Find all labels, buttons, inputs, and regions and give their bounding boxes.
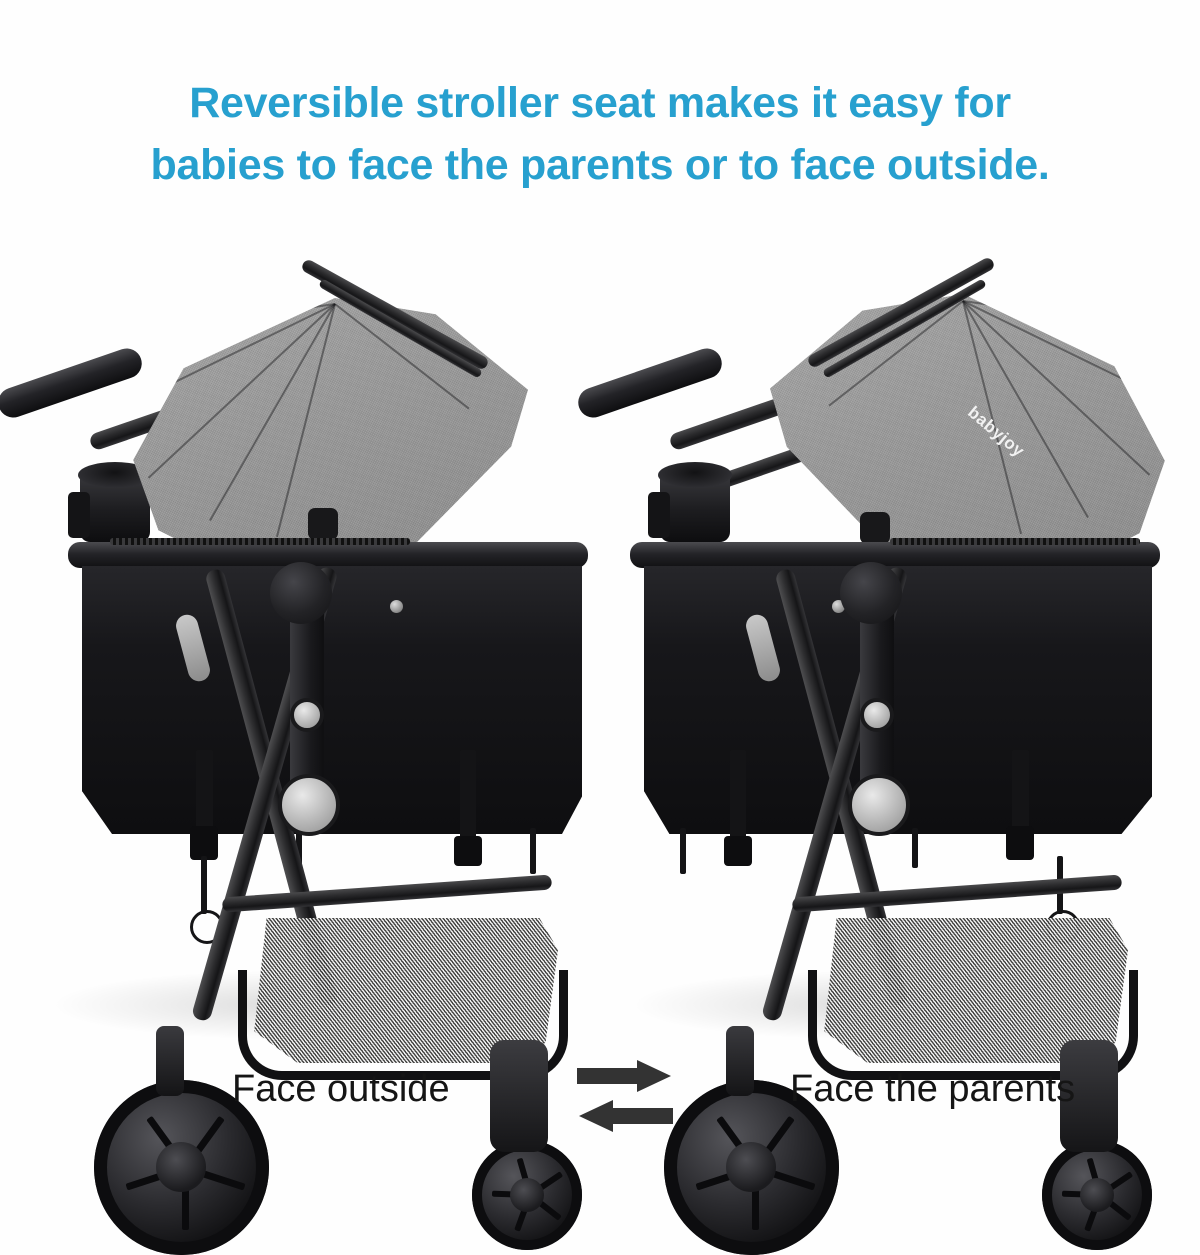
headline-line-1: Reversible stroller seat makes it easy f… <box>0 72 1200 134</box>
swap-arrows-icon <box>575 1058 675 1138</box>
handle-grip <box>0 344 146 421</box>
frame-lower-bar <box>222 875 552 913</box>
bassinet-top-rail <box>630 542 1160 568</box>
bassinet-zipper-trim <box>890 538 1140 545</box>
harness-buckle <box>190 826 218 860</box>
page-title: Reversible stroller seat makes it easy f… <box>0 72 1200 196</box>
cup-holder-rim <box>658 462 732 488</box>
rear-strap-buckle <box>454 836 482 866</box>
canopy-hinge <box>860 512 890 544</box>
frame-lower-bar <box>792 875 1122 913</box>
frame-pivot-disc-large <box>278 774 340 836</box>
cup-holder-clamp <box>648 492 670 538</box>
handle-grip <box>574 344 726 421</box>
rear-strap-buckle <box>724 836 752 866</box>
stroller-face-parents: babyjoy <box>560 280 1160 1040</box>
bassinet-rivet <box>390 600 403 613</box>
rear-axle-mount <box>726 1026 754 1096</box>
product-image: Reversible stroller seat makes it easy f… <box>0 0 1200 1200</box>
harness-buckle <box>1006 826 1034 860</box>
frame-pivot-hub <box>270 562 332 624</box>
rear-axle-mount <box>156 1026 184 1096</box>
hanging-hook-1 <box>530 828 536 874</box>
rear-strap <box>730 750 746 846</box>
hanging-hook-1 <box>680 828 686 874</box>
front-wheel <box>472 1140 582 1250</box>
front-wheel <box>1042 1140 1152 1250</box>
rear-strap <box>460 750 476 846</box>
harness-strap <box>1012 750 1029 834</box>
canopy: babyjoy <box>770 294 1190 572</box>
caption-face-outside: Face outside <box>232 1068 450 1111</box>
canopy-hinge <box>308 508 338 540</box>
caption-face-the-parents: Face the parents <box>790 1068 1075 1111</box>
harness-strap <box>196 750 213 834</box>
bassinet-zipper-trim <box>110 538 410 545</box>
frame-pivot-hub <box>840 562 902 624</box>
bassinet-top-rail <box>68 542 588 568</box>
frame-pivot-disc-large <box>848 774 910 836</box>
frame-pivot-disc-small <box>860 698 894 732</box>
hanging-hook-2 <box>912 828 918 868</box>
front-wheel-fork <box>490 1040 548 1152</box>
headline-line-2: babies to face the parents or to face ou… <box>0 134 1200 196</box>
strap-hook-stem <box>201 856 207 914</box>
cup-holder-clamp <box>68 492 90 538</box>
stroller-face-outside <box>0 280 590 1040</box>
frame-pivot-disc-small <box>290 698 324 732</box>
